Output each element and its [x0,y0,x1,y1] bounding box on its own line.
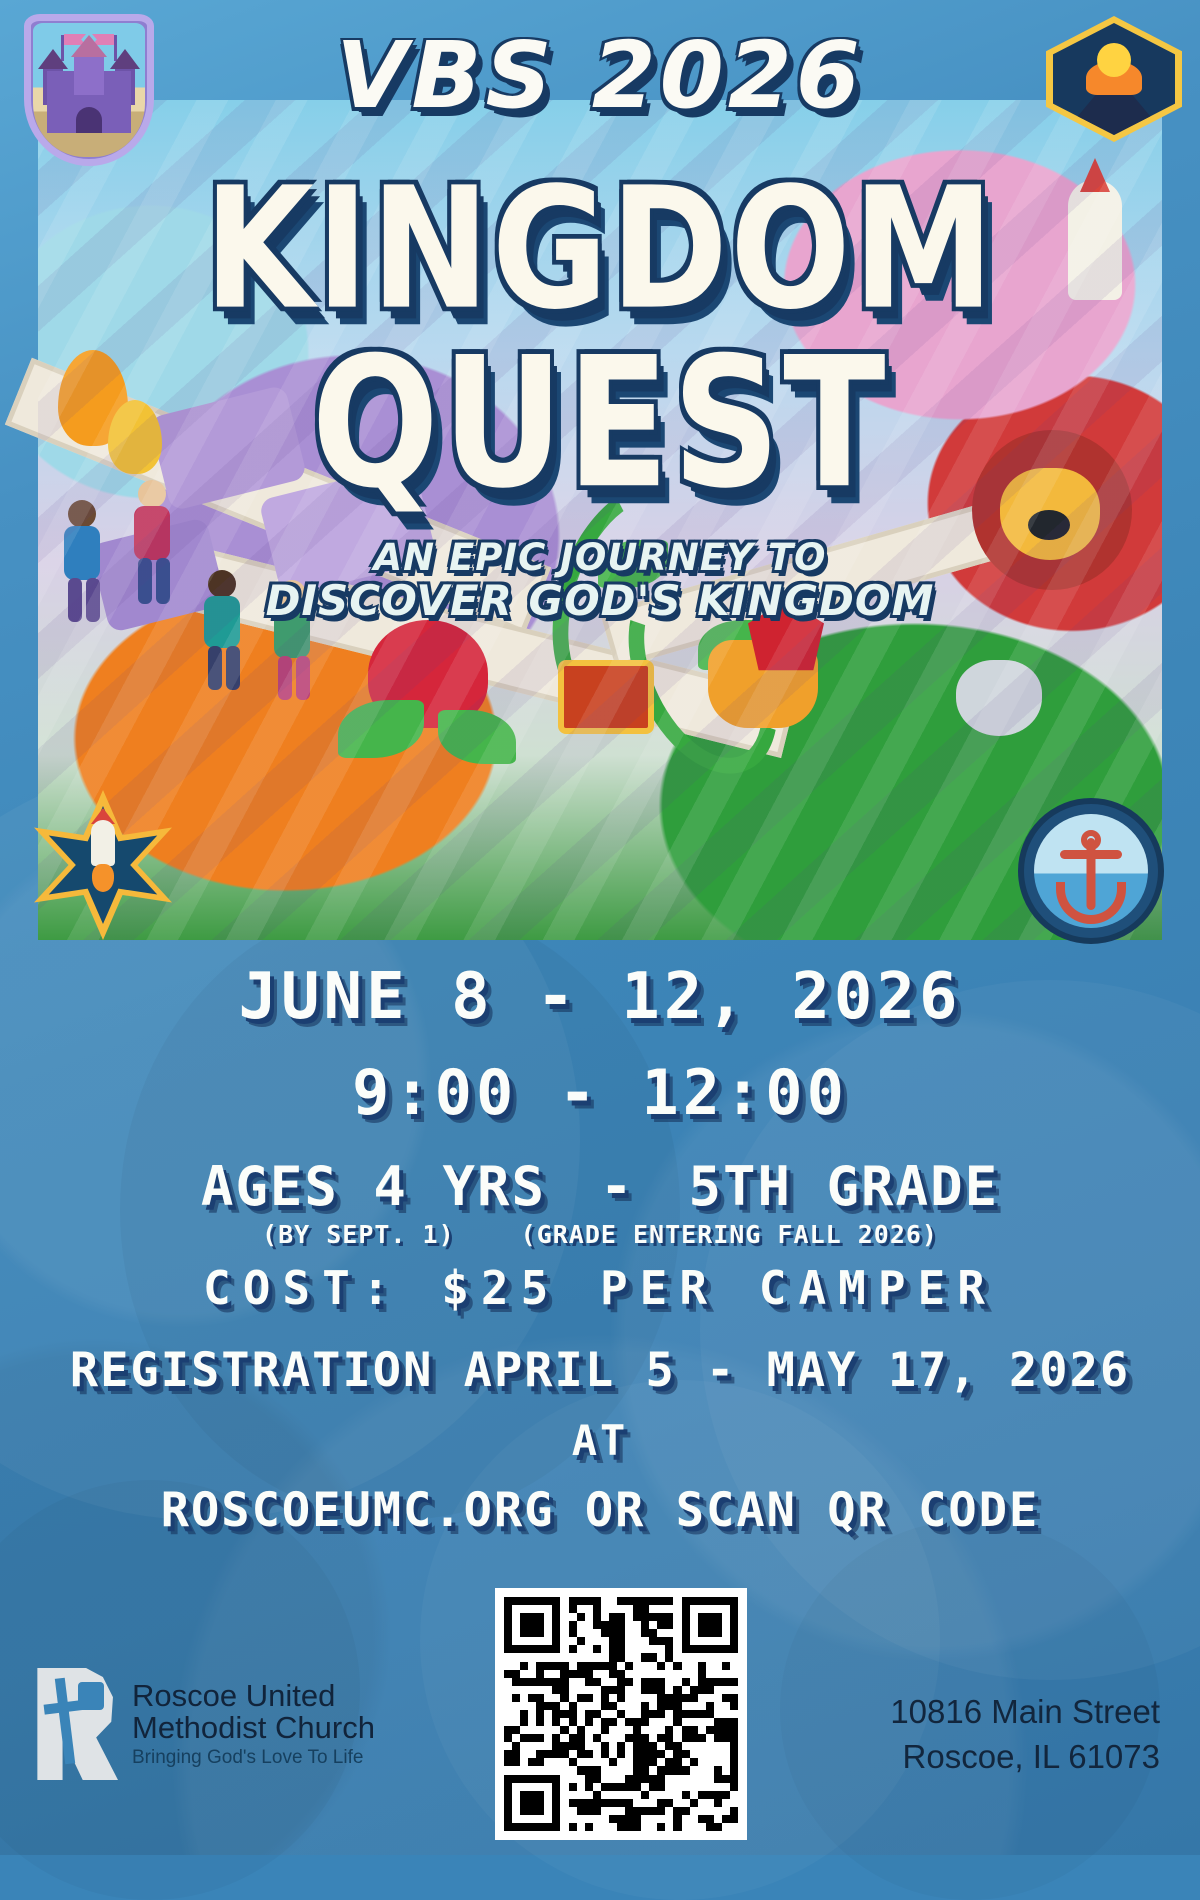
registration-url[interactable]: ROSCOEUMC.ORG OR SCAN QR CODE [0,1483,1200,1538]
event-dates: JUNE 8 - 12, 2026 [0,960,1200,1034]
tagline-line-1: AN EPIC JOURNEY TO [0,538,1200,578]
church-logo-icon [34,1668,118,1780]
age-min: AGES 4 YRS [201,1155,546,1218]
age-range-row: AGES 4 YRS - 5TH GRADE [0,1155,1200,1218]
leaf-shape [438,710,516,764]
castle-shield-icon [24,14,154,166]
heart-plant-shape [368,620,488,728]
age-min-note: (BY SEPT. 1) [262,1220,455,1249]
vbs-year-title: VBS 2026 [0,22,1200,129]
age-max-note: (GRADE ENTERING FALL 2026) [521,1220,938,1249]
poster-root: VBS 2026 KINGDOM QUEST AN EPIC JOURNEY T… [0,0,1200,1855]
rocket-star-badge-icon [28,790,178,940]
treasure-chest-shape [558,660,654,734]
address-line-2: Roscoe, IL 61073 [890,1735,1160,1780]
volcano-badge-icon [1046,16,1182,142]
age-notes-row: (BY SEPT. 1) (GRADE ENTERING FALL 2026) [0,1220,1200,1249]
wolf-head-shape [956,660,1042,736]
church-name-line-1: Roscoe United [132,1680,375,1712]
church-address: 10816 Main Street Roscoe, IL 61073 [890,1690,1160,1779]
tagline: AN EPIC JOURNEY TO DISCOVER GOD'S KINGDO… [0,538,1200,623]
qr-code[interactable] [495,1588,747,1840]
leaf-shape [698,620,772,670]
address-line-1: 10816 Main Street [890,1690,1160,1735]
event-details: JUNE 8 - 12, 2026 9:00 - 12:00 AGES 4 YR… [0,960,1200,1538]
leaf-shape [338,700,424,758]
title-line-quest: QUEST [0,341,1200,507]
church-name-line-2: Methodist Church [132,1712,375,1744]
title-line-kingdom: KINGDOM [0,173,1200,327]
hand-shape [708,640,818,728]
church-name-text: Roscoe United Methodist Church Bringing … [132,1680,375,1768]
anchor-circle-badge-icon [1018,798,1164,944]
registration-at-label: AT [0,1416,1200,1465]
church-logo-block: Roscoe United Methodist Church Bringing … [34,1668,375,1780]
event-time: 9:00 - 12:00 [0,1056,1200,1129]
registration-window: REGISTRATION APRIL 5 - MAY 17, 2026 [0,1343,1200,1398]
tagline-line-2: DISCOVER GOD'S KINGDOM [0,578,1200,623]
cost-line: COST: $25 PER CAMPER [0,1261,1200,1315]
lion-mouth-shape [1028,510,1070,540]
age-range-dash: - [600,1155,635,1218]
age-max: 5TH GRADE [689,1155,1000,1218]
church-tagline: Bringing God's Love To Life [132,1748,375,1768]
